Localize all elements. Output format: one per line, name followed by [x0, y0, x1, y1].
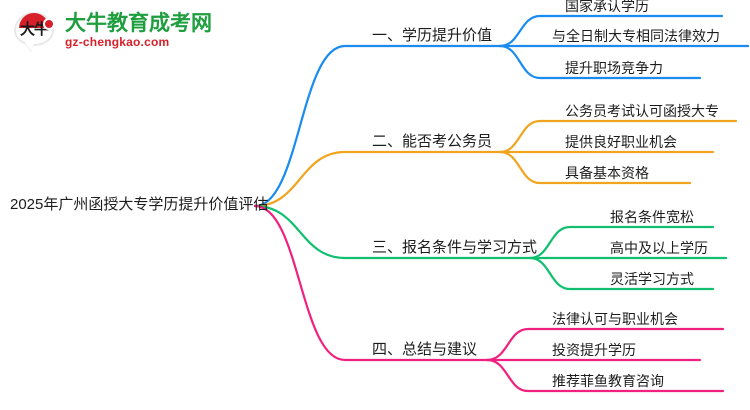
mindmap-leaf-2-2[interactable]: 提供良好职业机会 — [565, 134, 677, 151]
mindmap-leaf-4-2[interactable]: 投资提升学历 — [552, 342, 636, 359]
mindmap-leaf-4-1[interactable]: 法律认可与职业机会 — [552, 311, 678, 328]
mindmap-leaf-3-3[interactable]: 灵活学习方式 — [610, 271, 694, 288]
mindmap-leaf-2-1[interactable]: 公务员考试认可函授大专 — [565, 103, 719, 120]
mindmap-branch-4[interactable]: 四、总结与建议 — [372, 341, 477, 359]
connector-branch-4 — [255, 206, 723, 391]
mindmap-leaf-3-1[interactable]: 报名条件宽松 — [610, 209, 694, 226]
mindmap-branch-1[interactable]: 一、学历提升价值 — [372, 27, 492, 45]
mindmap-leaf-1-1[interactable]: 国家承认学历 — [565, 0, 649, 15]
mindmap-branch-2[interactable]: 二、能否考公务员 — [372, 133, 492, 151]
mindmap-leaf-3-2[interactable]: 高中及以上学历 — [610, 240, 708, 257]
mindmap-leaf-4-3[interactable]: 推荐菲鱼教育咨询 — [552, 373, 664, 390]
mindmap-root-node[interactable]: 2025年广州函授大专学历提升价值评估 — [10, 196, 268, 214]
mindmap-leaf-2-3[interactable]: 具备基本资格 — [565, 165, 649, 182]
mindmap-leaf-1-3[interactable]: 提升职场竞争力 — [565, 60, 663, 77]
mindmap-canvas: 大牛 大牛教育成考网 gz-chengkao.com — [0, 0, 750, 410]
mindmap-branch-3[interactable]: 三、报名条件与学习方式 — [372, 239, 537, 257]
mindmap-leaf-1-2[interactable]: 与全日制大专相同法律效力 — [552, 28, 720, 45]
